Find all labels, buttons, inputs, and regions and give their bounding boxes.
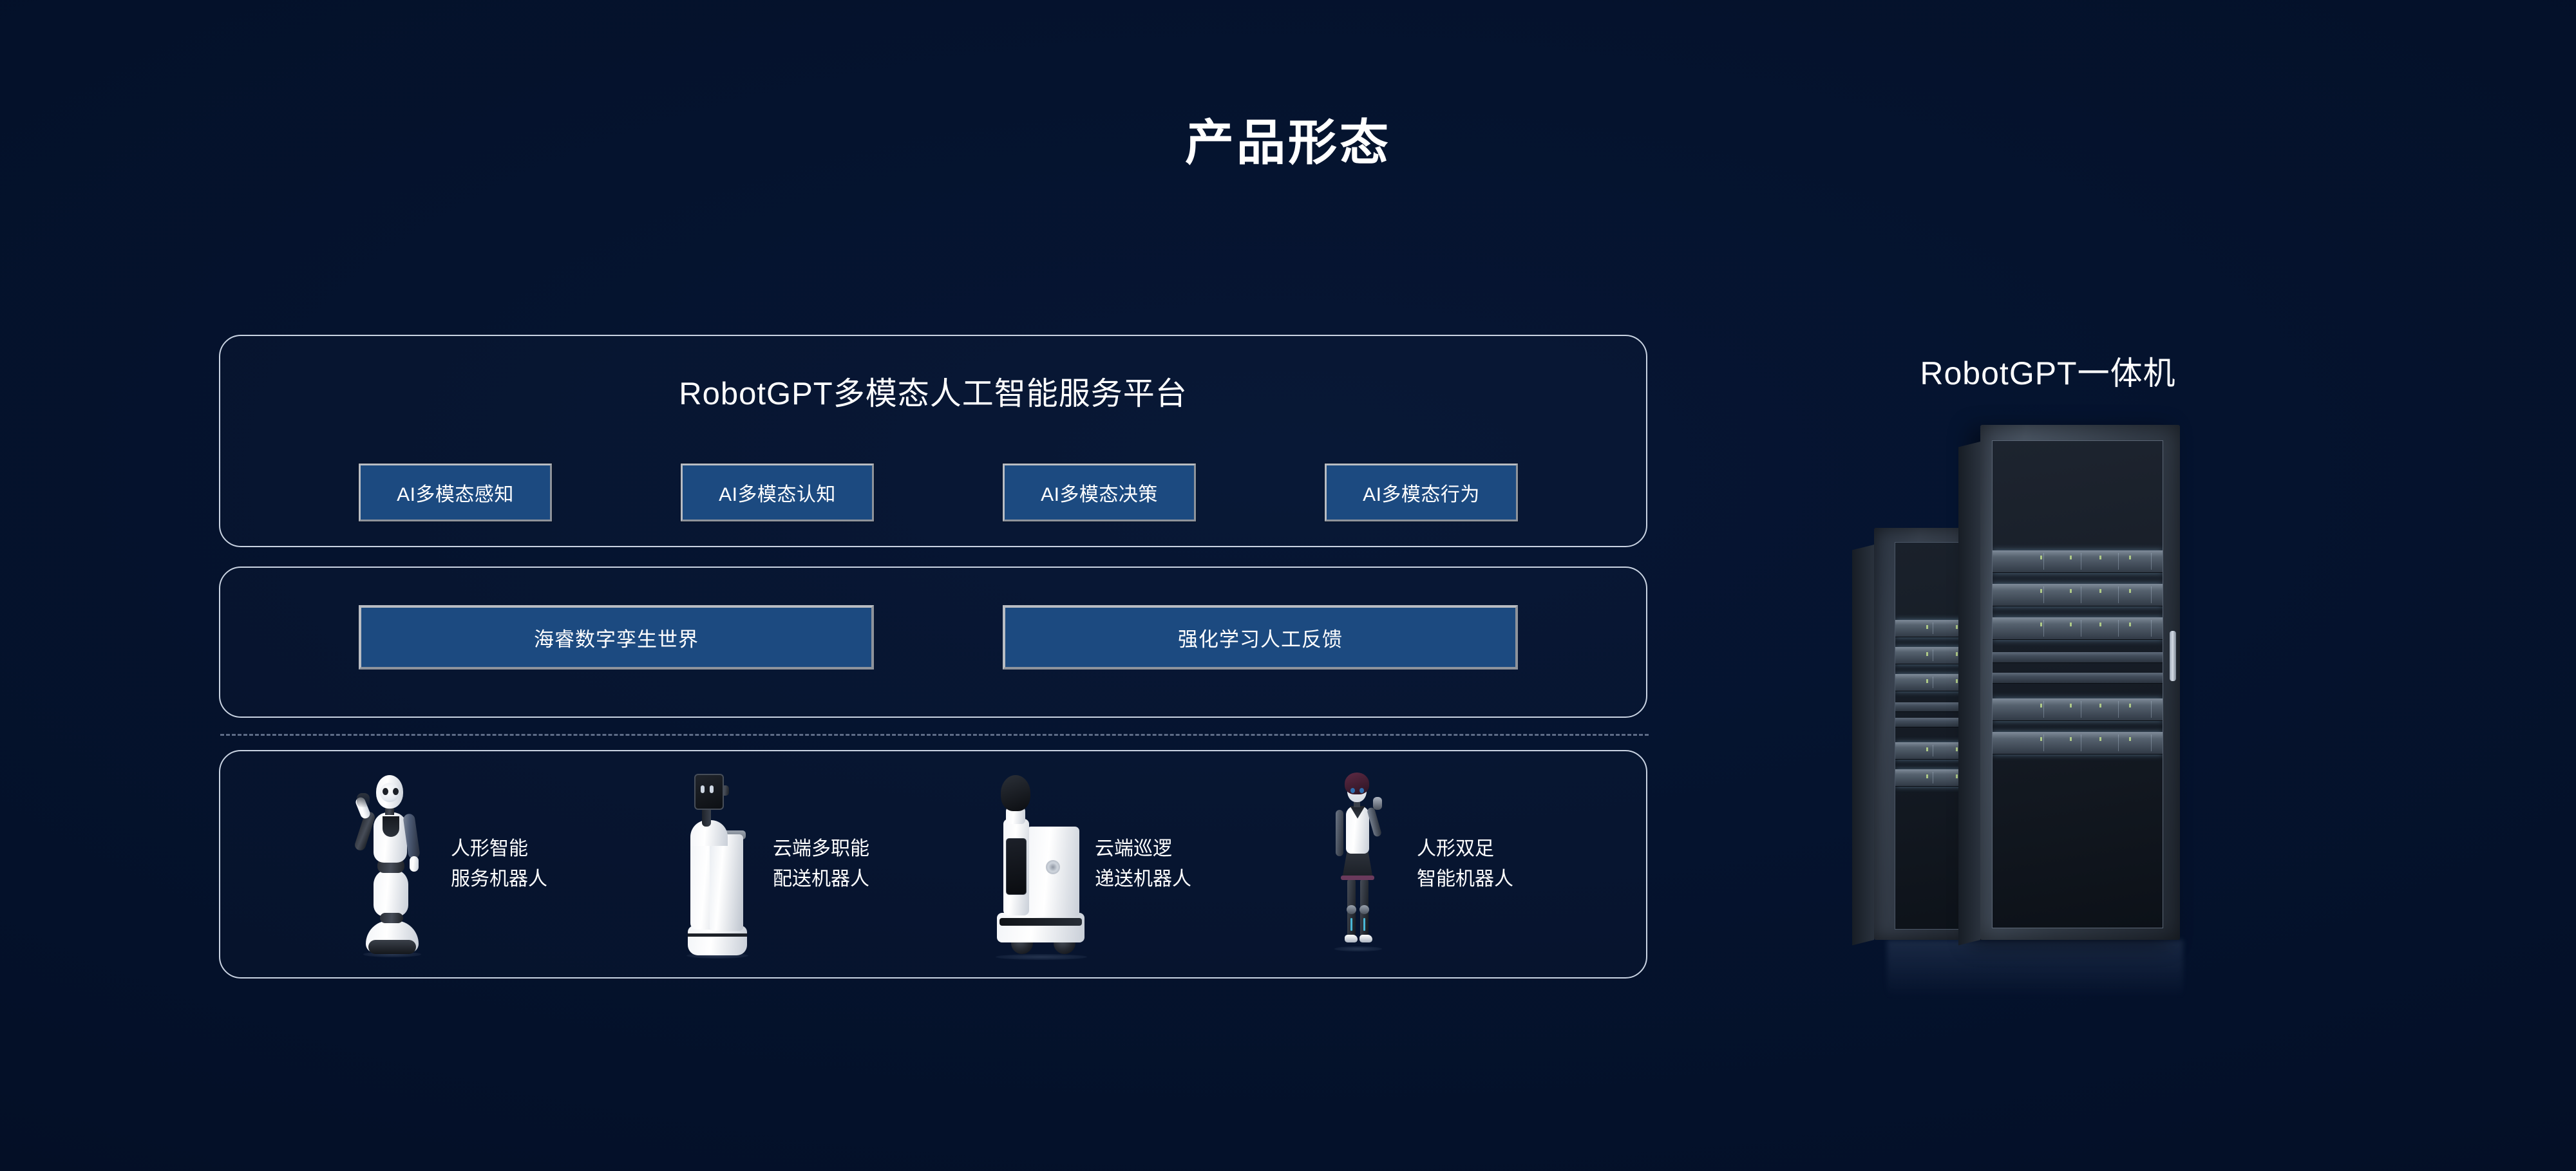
product-label-line1: 人形智能 xyxy=(451,834,547,865)
product-label-line2: 智能机器人 xyxy=(1417,865,1513,895)
list-item[interactable]: 人形双足 智能机器人 xyxy=(1309,771,1631,958)
product-list: 人形智能 服务机器人 xyxy=(220,751,1646,977)
product-label-line1: 云端巡逻 xyxy=(1095,834,1191,865)
products-panel: 人形智能 服务机器人 xyxy=(219,750,1647,979)
product-label-line1: 人形双足 xyxy=(1417,834,1513,865)
foundation-panel: 海睿数字孪生世界 强化学习人工反馈 xyxy=(219,567,1647,718)
capability-chip-decision[interactable]: AI多模态决策 xyxy=(1003,464,1196,521)
server-cabinet-large xyxy=(1980,425,2180,940)
product-label: 云端多职能 配送机器人 xyxy=(773,834,869,894)
slide-canvas: 产品形态 RobotGPT多模态人工智能服务平台 AI多模态感知 AI多模态认知… xyxy=(0,0,2576,1171)
humanoid-service-robot-icon xyxy=(343,771,439,958)
product-label: 人形双足 智能机器人 xyxy=(1417,834,1513,894)
capability-chip-perception[interactable]: AI多模态感知 xyxy=(359,464,552,521)
capability-chip-row: AI多模态感知 AI多模态认知 AI多模态决策 AI多模态行为 xyxy=(359,464,1518,521)
product-label-line1: 云端多职能 xyxy=(773,834,869,865)
platform-title: RobotGPT多模态人工智能服务平台 xyxy=(220,368,1646,414)
section-divider xyxy=(220,734,1649,736)
foundation-bar-digital-twin[interactable]: 海睿数字孪生世界 xyxy=(359,605,874,670)
platform-stack: RobotGPT多模态人工智能服务平台 AI多模态感知 AI多模态认知 AI多模… xyxy=(219,335,1649,979)
appliance-title: RobotGPT一体机 xyxy=(1842,348,2254,394)
foundation-bar-rlhf[interactable]: 强化学习人工反馈 xyxy=(1003,605,1518,670)
list-item[interactable]: 云端多职能 配送机器人 xyxy=(665,771,987,958)
product-label-line2: 服务机器人 xyxy=(451,865,547,895)
platform-panel: RobotGPT多模态人工智能服务平台 AI多模态感知 AI多模态认知 AI多模… xyxy=(219,335,1647,547)
cabinet-door-handle[interactable] xyxy=(2170,631,2176,681)
page-title: 产品形态 xyxy=(0,119,2576,168)
product-label-line2: 配送机器人 xyxy=(773,865,869,895)
cloud-delivery-robot-icon xyxy=(665,771,761,958)
product-label-line2: 递送机器人 xyxy=(1095,865,1191,895)
foundation-bar-row: 海睿数字孪生世界 强化学习人工反馈 xyxy=(359,605,1518,670)
cloud-patrol-vehicle-icon xyxy=(987,771,1083,958)
capability-chip-behavior[interactable]: AI多模态行为 xyxy=(1325,464,1518,521)
server-rack-icon xyxy=(1861,412,2248,991)
product-label: 云端巡逻 递送机器人 xyxy=(1095,834,1191,894)
product-label: 人形智能 服务机器人 xyxy=(451,834,547,894)
capability-chip-cognition[interactable]: AI多模态认知 xyxy=(681,464,874,521)
list-item[interactable]: 云端巡逻 递送机器人 xyxy=(987,771,1309,958)
appliance-block: RobotGPT一体机 xyxy=(1842,335,2357,1024)
bipedal-humanoid-robot-icon xyxy=(1309,771,1405,958)
list-item[interactable]: 人形智能 服务机器人 xyxy=(343,771,665,958)
